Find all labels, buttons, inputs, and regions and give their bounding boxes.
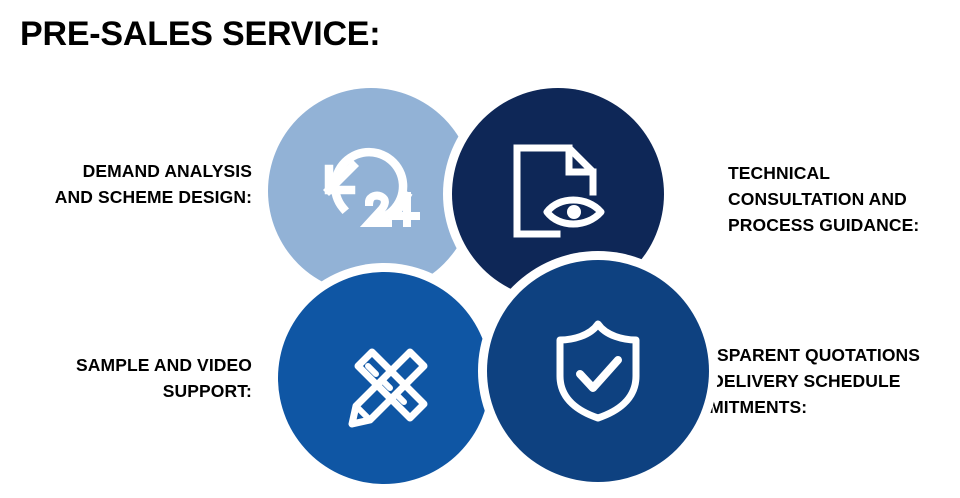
page-title: PRE-SALES SERVICE: [20,12,380,56]
label-line: AND SCHEME DESIGN: [0,184,252,210]
label-transparent-quotations: TRANSPARENT QUOTATIONS AND DELIVERY SCHE… [668,342,960,420]
label-line: SAMPLE AND VIDEO [0,352,252,378]
node-transparent-quotations[interactable] [487,260,709,482]
label-line: COMMITMENTS: [668,394,960,420]
clock-24-rotate-icon [268,88,474,294]
circle-cluster [262,80,672,492]
label-line: SUPPORT: [0,378,252,404]
label-line: TECHNICAL [728,160,960,186]
label-demand-analysis: DEMAND ANALYSIS AND SCHEME DESIGN: [0,158,252,210]
node-demand-analysis[interactable] [268,88,474,294]
label-line: DEMAND ANALYSIS [0,158,252,184]
label-line: AND DELIVERY SCHEDULE [668,368,960,394]
label-line: TRANSPARENT QUOTATIONS [668,342,960,368]
label-sample-video-support: SAMPLE AND VIDEO SUPPORT: [0,352,252,404]
label-technical-consultation: TECHNICAL CONSULTATION AND PROCESS GUIDA… [728,160,960,238]
shield-check-icon [487,260,709,482]
node-sample-video-support[interactable] [278,272,490,484]
infographic-canvas: PRE-SALES SERVICE: [0,0,960,498]
pen-ruler-icon [278,272,490,484]
label-line: CONSULTATION AND [728,186,960,212]
label-line: PROCESS GUIDANCE: [728,212,960,238]
